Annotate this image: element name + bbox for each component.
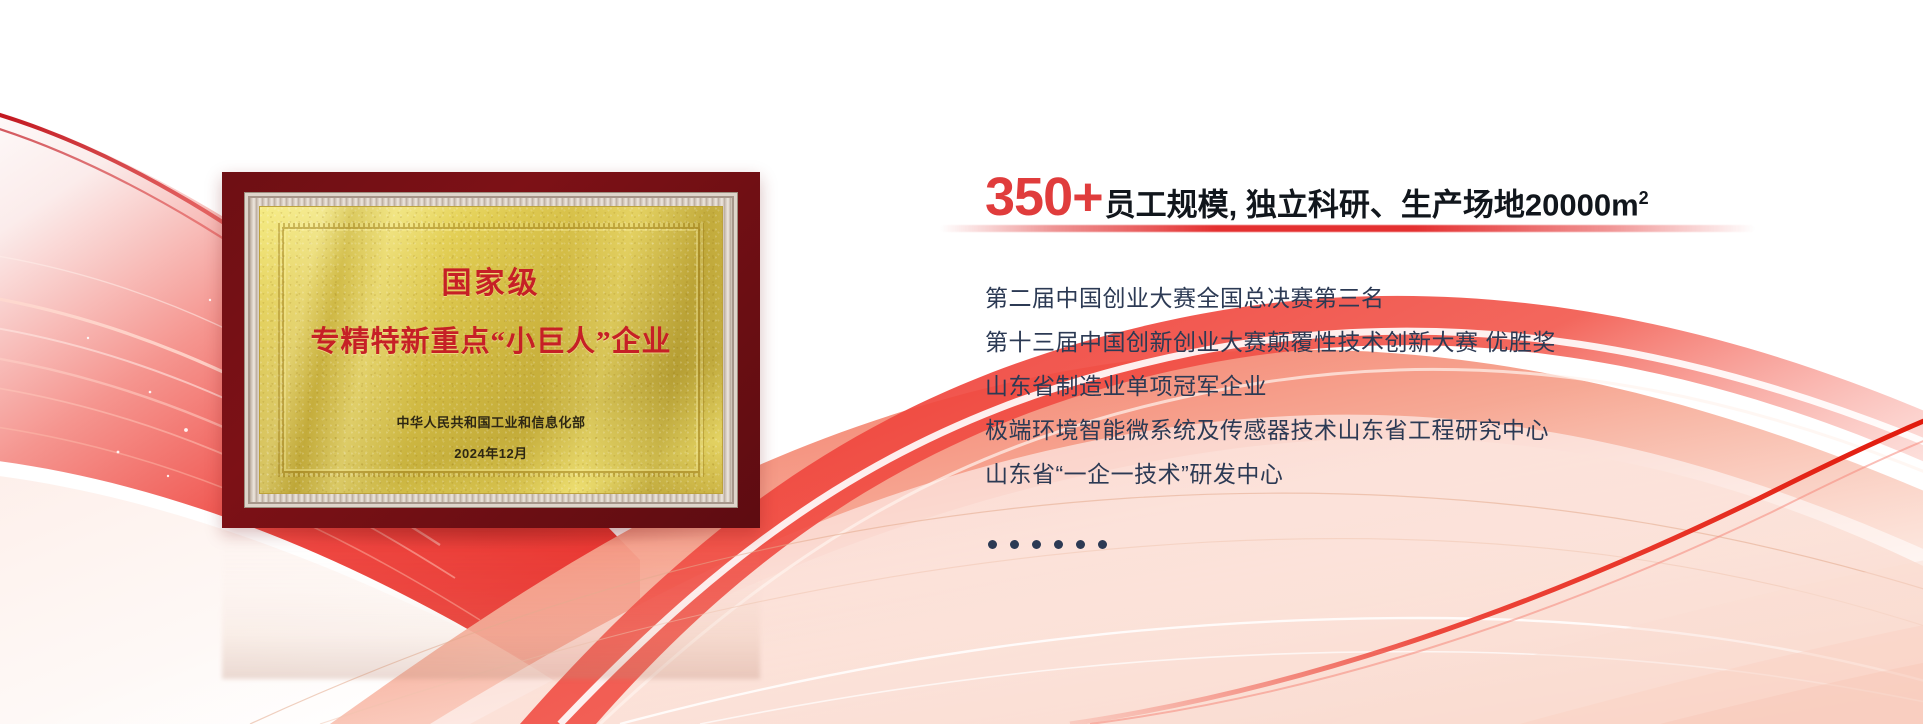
award-item: 极端环境智能微系统及传感器技术山东省工程研究中心 bbox=[985, 408, 1885, 452]
headline-text-main: 员工规模, 独立科研、生产场地20000m bbox=[1105, 187, 1639, 222]
award-item: 第二届中国创业大赛全国总决赛第三名 bbox=[985, 276, 1885, 320]
headline: 350+ 员工规模, 独立科研、生产场地20000m2 bbox=[985, 170, 1649, 224]
plaque-title-line1: 国家级 bbox=[442, 258, 541, 302]
plaque-frame: 国家级 专精特新重点“小巨人”企业 中华人民共和国工业和信息化部 2024年12… bbox=[222, 172, 760, 528]
plaque-date: 2024年12月 bbox=[454, 443, 527, 462]
ellipsis-dots bbox=[988, 540, 1107, 549]
headline-text: 员工规模, 独立科研、生产场地20000m2 bbox=[1105, 189, 1649, 220]
award-plaque: 国家级 专精特新重点“小巨人”企业 中华人民共和国工业和信息化部 2024年12… bbox=[222, 172, 760, 528]
company-honors-banner: 国家级 专精特新重点“小巨人”企业 中华人民共和国工业和信息化部 2024年12… bbox=[0, 0, 1923, 724]
plaque-text-block: 国家级 专精特新重点“小巨人”企业 中华人民共和国工业和信息化部 2024年12… bbox=[222, 172, 760, 528]
awards-list: 第二届中国创业大赛全国总决赛第三名 第十三届中国创新创业大赛颠覆性技术创新大赛 … bbox=[985, 276, 1885, 496]
ellipsis-dot bbox=[1032, 540, 1041, 549]
plaque-title-line2: 专精特新重点“小巨人”企业 bbox=[310, 318, 671, 360]
headline-underline bbox=[940, 225, 1755, 232]
headline-superscript: 2 bbox=[1639, 188, 1649, 208]
content-column: 350+ 员工规模, 独立科研、生产场地20000m2 第二届中国创业大赛全国总… bbox=[985, 0, 1885, 724]
ellipsis-dot bbox=[1054, 540, 1063, 549]
award-item: 山东省“一企一技术”研发中心 bbox=[985, 452, 1885, 496]
ellipsis-dot bbox=[1076, 540, 1085, 549]
award-item: 第十三届中国创新创业大赛颠覆性技术创新大赛 优胜奖 bbox=[985, 320, 1885, 364]
ellipsis-dot bbox=[1098, 540, 1107, 549]
plaque-issuer: 中华人民共和国工业和信息化部 bbox=[396, 412, 585, 431]
ellipsis-dot bbox=[988, 540, 997, 549]
headline-number: 350+ bbox=[985, 170, 1103, 224]
ellipsis-dot bbox=[1010, 540, 1019, 549]
award-item: 山东省制造业单项冠军企业 bbox=[985, 364, 1885, 408]
